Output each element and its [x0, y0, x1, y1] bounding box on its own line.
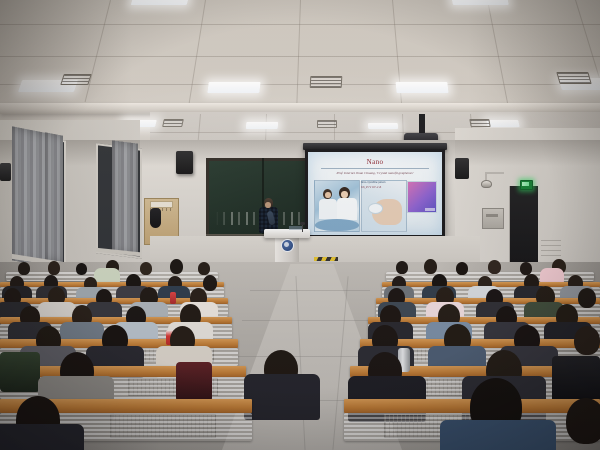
lab-researchers-photo — [314, 180, 360, 232]
backpack[interactable] — [176, 362, 212, 402]
magenta-sample-photo — [407, 181, 437, 213]
student-head — [574, 326, 600, 355]
student-head — [424, 259, 437, 274]
microphone-stem — [302, 224, 303, 232]
researcher-face — [341, 191, 348, 198]
floor-tile-line — [242, 320, 380, 321]
doorway[interactable] — [509, 186, 538, 270]
presentation-slide: Nano Prof. Internet Jinan Chuang, 'Cryst… — [308, 152, 442, 235]
slide-caption-small: Intra-crystalline pattern — [361, 181, 405, 184]
wall-panel-label — [486, 214, 498, 217]
curtain — [112, 140, 138, 255]
student-head — [76, 263, 87, 275]
student-head — [396, 261, 408, 274]
slide-caption-values: 0.6_25 V 10^-2 2i — [361, 186, 405, 189]
student-head — [48, 261, 60, 275]
student-head — [456, 262, 468, 275]
projection-screen: Nano Prof. Internet Jinan Chuang, 'Cryst… — [305, 149, 445, 238]
wall-speaker — [455, 158, 469, 179]
student-head — [578, 288, 596, 308]
backpack[interactable] — [0, 352, 40, 392]
lab-coat — [337, 198, 357, 220]
slide-divider — [321, 168, 428, 169]
lab-coat — [319, 199, 337, 219]
lecturer-face — [265, 202, 271, 208]
curtain — [45, 132, 63, 263]
student-head — [488, 260, 501, 274]
water-bottle[interactable] — [170, 292, 176, 304]
backpack[interactable] — [552, 356, 600, 404]
exit-sign-glyph — [522, 182, 529, 186]
security-camera-icon — [481, 180, 492, 188]
researcher-face — [325, 192, 331, 198]
student-body — [244, 374, 320, 420]
wall-speaker — [0, 163, 11, 181]
student-body — [440, 420, 556, 450]
crest-inner — [284, 242, 289, 247]
wall-sign — [541, 240, 561, 256]
student-head — [140, 262, 152, 275]
student-head — [203, 275, 217, 291]
camera-bracket — [485, 172, 504, 174]
student-head — [170, 259, 183, 274]
lectern-top — [264, 229, 310, 238]
floor-tile-line — [250, 290, 370, 291]
notice-board-label — [150, 201, 173, 208]
slide-title: Nano — [308, 158, 442, 166]
lab-bench — [315, 219, 359, 231]
slide-subtitle: Prof. Internet Jinan Chuang, 'Crystal na… — [316, 171, 434, 175]
student-head — [566, 398, 600, 444]
student-head — [198, 262, 210, 275]
hazard-stripe — [314, 257, 338, 261]
student-head — [18, 262, 30, 275]
hanging-coat — [150, 208, 161, 228]
student-body — [0, 424, 84, 450]
lecture-hall-photo: Nano Prof. Internet Jinan Chuang, 'Cryst… — [0, 0, 600, 450]
microphone-icon — [300, 222, 305, 225]
lectern-monitor[interactable] — [289, 226, 303, 230]
wall-control-panel[interactable] — [482, 208, 504, 229]
sample-scalebar — [425, 208, 435, 211]
sample-dish — [368, 203, 383, 214]
wall-speaker — [176, 151, 193, 174]
